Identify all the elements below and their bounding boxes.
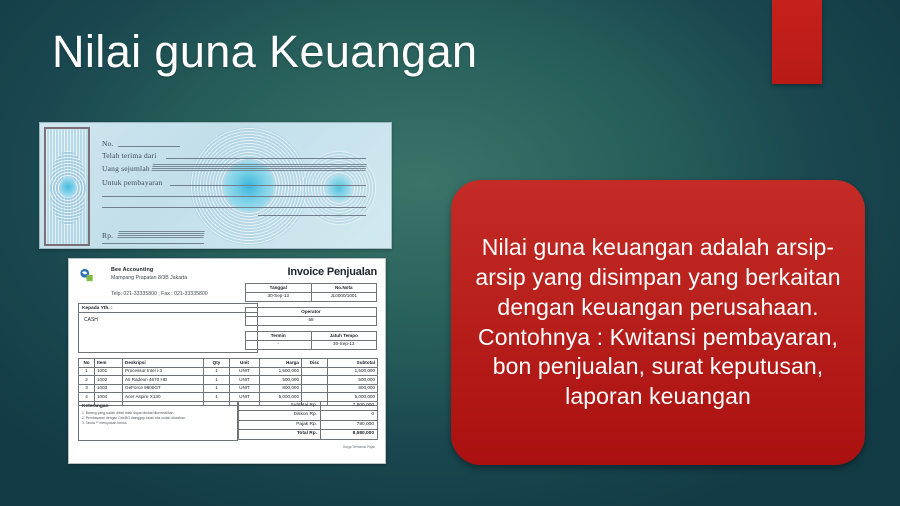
table-cell: 1,500,000 [328,367,378,376]
slide-canvas: Nilai guna Keuangan No. Telah terima dar… [0,0,900,506]
table-cell: Ati Radeon 4670 HD [123,376,204,385]
col-qty: Qty [204,359,230,368]
col-subtotal: Subtotal [328,359,378,368]
table-cell [302,367,328,376]
stub-rosette-icon [50,151,86,225]
table-cell: 2 [79,376,95,385]
col-item: Item [95,359,123,368]
keterangan-title: Keterangan [82,404,234,409]
invoice-items-table: No Item Deskripsi Qty Unit Harga Disc Su… [78,358,378,406]
totals-row: Pajak Rp.780,000 [239,420,378,429]
table-cell: 1003 [95,384,123,393]
totals-label: Pajak Rp. [239,420,321,429]
table-row: 11001Processor Intel i-31UNIT1,500,0001,… [79,367,378,376]
kwitansi-rule-rp [102,243,204,244]
page-title: Nilai guna Keuangan [52,26,752,78]
invoice-doc-title: Invoice Penjualan [287,266,377,278]
table-cell: 1 [204,367,230,376]
table-cell: 3 [79,384,95,393]
kwitansi-rule-no [118,146,180,147]
table-cell: UNIT [230,384,260,393]
table-row: 31003GeForce 9600GT1UNIT800,000800,000 [79,384,378,393]
val-nonota: JL0000/1001 [311,292,377,301]
table-cell: Processor Intel i-3 [123,367,204,376]
val-operator: 58 [246,316,377,325]
val-jatuhtempo: 30-Sep-13 [311,340,377,349]
col-jatuhtempo: Jatuh Tempo [311,332,377,341]
col-no: No [79,359,95,368]
invoice-termin-table: Termin Jatuh Tempo - 30-Sep-13 [245,331,377,350]
invoice-company-address: Mampang Prapatan 8/3B Jakarta [111,275,187,281]
totals-value: 7,800,000 [321,402,378,411]
totals-value: 0 [321,411,378,420]
kwitansi-label-uang: Uang sejumlah [102,164,150,173]
invoice-date-table: Tanggal No.Nota 30-Sep-13 JL0000/1001 [245,283,377,302]
invoice-company-phone: Telp: 021-33335800 ; Fax : 021-33335800 [111,291,208,297]
guilloche-rosette-center-icon [190,127,308,245]
keterangan-note: 3. Tanda ** merupakan bonus [82,421,234,426]
col-operator: Operator [246,308,377,317]
kwitansi-rule-untuk2 [102,196,366,197]
invoice-recipient-value: CASH [79,313,257,327]
kwitansi-label-untuk: Untuk pembayaran [102,178,162,187]
totals-label: Diskon Rp. [239,411,321,420]
table-cell: 1001 [95,367,123,376]
val-tanggal: 30-Sep-13 [246,292,312,301]
accent-bar [772,0,822,84]
table-cell: 800,000 [260,384,302,393]
kwitansi-rule-untuk1 [170,185,366,186]
table-cell: UNIT [230,376,260,385]
guilloche-rosette-right-icon [302,151,376,225]
col-nonota: No.Nota [311,284,377,293]
kwitansi-stub [44,127,90,246]
table-cell: 1 [79,367,95,376]
totals-label: Total Rp. [239,430,321,439]
invoice-footnote: Harga Termasuk Pajak [343,445,375,449]
col-deskripsi: Deskripsi [123,359,204,368]
content-callout-text: Nilai guna keuangan adalah arsip-arsip y… [469,233,847,412]
invoice-company-name: Bee Accounting [111,267,153,273]
invoice-totals-table: Subtotal Rp.7,800,000Diskon Rp.0Pajak Rp… [238,401,378,440]
kwitansi-band-rp [117,231,205,239]
invoice-document-image: Bee Accounting Mampang Prapatan 8/3B Jak… [68,258,386,464]
totals-value: 780,000 [321,420,378,429]
table-cell: 800,000 [328,384,378,393]
col-disc: Disc [302,359,328,368]
totals-row: Total Rp.8,580,000 [239,430,378,439]
table-cell: 1 [204,376,230,385]
kwitansi-rule-untuk3 [102,207,366,208]
table-cell [302,376,328,385]
totals-row: Diskon Rp.0 [239,411,378,420]
col-unit: Unit [230,359,260,368]
kwitansi-band-uang [151,164,367,172]
kwitansi-label-no: No. [102,139,114,148]
totals-row: Subtotal Rp.7,800,000 [239,402,378,411]
kwitansi-receipt-image: No. Telah terima dari Uang sejumlah Untu… [39,122,392,249]
kwitansi-rule-untuk4 [258,215,366,216]
table-cell: 500,000 [328,376,378,385]
table-cell [302,384,328,393]
invoice-recipient-label: Kepada Yth. : [79,304,257,313]
col-harga: Harga [260,359,302,368]
kwitansi-rule-terima [166,158,366,159]
totals-value: 8,580,000 [321,430,378,439]
table-cell: 1,500,000 [260,367,302,376]
kwitansi-label-terima: Telah terima dari [102,151,157,160]
invoice-operator-table: Operator 58 [245,307,377,326]
invoice-recipient-box: Kepada Yth. : CASH [78,303,258,353]
table-cell: 500,000 [260,376,302,385]
bee-accounting-logo-icon [79,268,94,282]
col-tanggal: Tanggal [246,284,312,293]
table-cell: 1002 [95,376,123,385]
content-callout-box: Nilai guna keuangan adalah arsip-arsip y… [451,180,865,465]
table-row: 21002Ati Radeon 4670 HD1UNIT500,000500,0… [79,376,378,385]
table-cell: 1 [204,384,230,393]
table-header-row: No Item Deskripsi Qty Unit Harga Disc Su… [79,359,378,368]
table-cell: GeForce 9600GT [123,384,204,393]
invoice-keterangan-box: Keterangan 1. Barang yang sudah dibeli t… [78,401,238,441]
table-cell: UNIT [230,367,260,376]
totals-label: Subtotal Rp. [239,402,321,411]
kwitansi-label-rp: Rp. [102,231,113,240]
